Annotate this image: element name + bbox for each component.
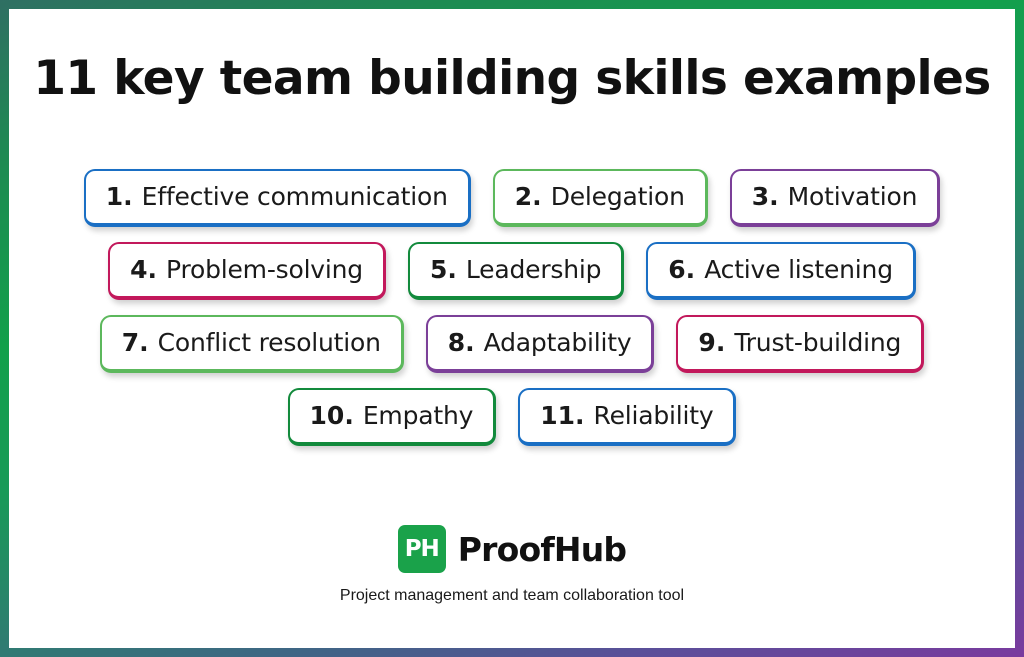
skill-label: Effective communication	[142, 182, 448, 211]
skill-box[interactable]: 9.Trust-building	[676, 315, 924, 373]
skill-number: 8.	[448, 328, 475, 357]
skill-number: 4.	[130, 255, 157, 284]
skill-number: 11.	[540, 401, 584, 430]
skill-number: 3.	[752, 182, 779, 211]
skill-label: Trust-building	[734, 328, 901, 357]
skill-number: 10.	[310, 401, 354, 430]
skill-label: Active listening	[704, 255, 893, 284]
skills-row: 7.Conflict resolution8.Adaptability9.Tru…	[9, 315, 1015, 373]
skill-number: 9.	[698, 328, 725, 357]
skill-label: Empathy	[363, 401, 473, 430]
brand-tagline: Project management and team collaboratio…	[9, 587, 1015, 605]
skill-number: 1.	[106, 182, 133, 211]
skill-number: 6.	[668, 255, 695, 284]
skill-box[interactable]: 4.Problem-solving	[108, 242, 386, 300]
skill-box[interactable]: 1.Effective communication	[84, 169, 471, 227]
skill-box[interactable]: 2.Delegation	[493, 169, 708, 227]
content-area: 11 key team building skills examples 1.E…	[9, 9, 1015, 648]
skill-box[interactable]: 8.Adaptability	[426, 315, 655, 373]
page-title: 11 key team building skills examples	[9, 51, 1015, 106]
skill-label: Motivation	[788, 182, 918, 211]
skill-box[interactable]: 5.Leadership	[408, 242, 624, 300]
proofhub-logo-icon: PH	[398, 525, 446, 573]
skill-label: Delegation	[551, 182, 685, 211]
skill-number: 2.	[515, 182, 542, 211]
skill-number: 5.	[430, 255, 457, 284]
infographic-canvas: 11 key team building skills examples 1.E…	[0, 0, 1024, 657]
skill-label: Problem-solving	[166, 255, 363, 284]
skill-box[interactable]: 10.Empathy	[288, 388, 497, 446]
skills-list: 1.Effective communication2.Delegation3.M…	[9, 169, 1015, 461]
skills-row: 1.Effective communication2.Delegation3.M…	[9, 169, 1015, 227]
skill-box[interactable]: 11.Reliability	[518, 388, 736, 446]
skill-box[interactable]: 3.Motivation	[730, 169, 941, 227]
skill-box[interactable]: 7.Conflict resolution	[100, 315, 404, 373]
skill-label: Leadership	[466, 255, 601, 284]
skills-row: 4.Problem-solving5.Leadership6.Active li…	[9, 242, 1015, 300]
skill-number: 7.	[122, 328, 149, 357]
brand-name: ProofHub	[458, 530, 627, 569]
skills-row: 10.Empathy11.Reliability	[9, 388, 1015, 446]
brand-lockup: PH ProofHub	[9, 525, 1015, 573]
gradient-frame: 11 key team building skills examples 1.E…	[0, 0, 1024, 657]
skill-label: Adaptability	[484, 328, 632, 357]
skill-label: Conflict resolution	[158, 328, 381, 357]
skill-label: Reliability	[594, 401, 714, 430]
skill-box[interactable]: 6.Active listening	[646, 242, 916, 300]
